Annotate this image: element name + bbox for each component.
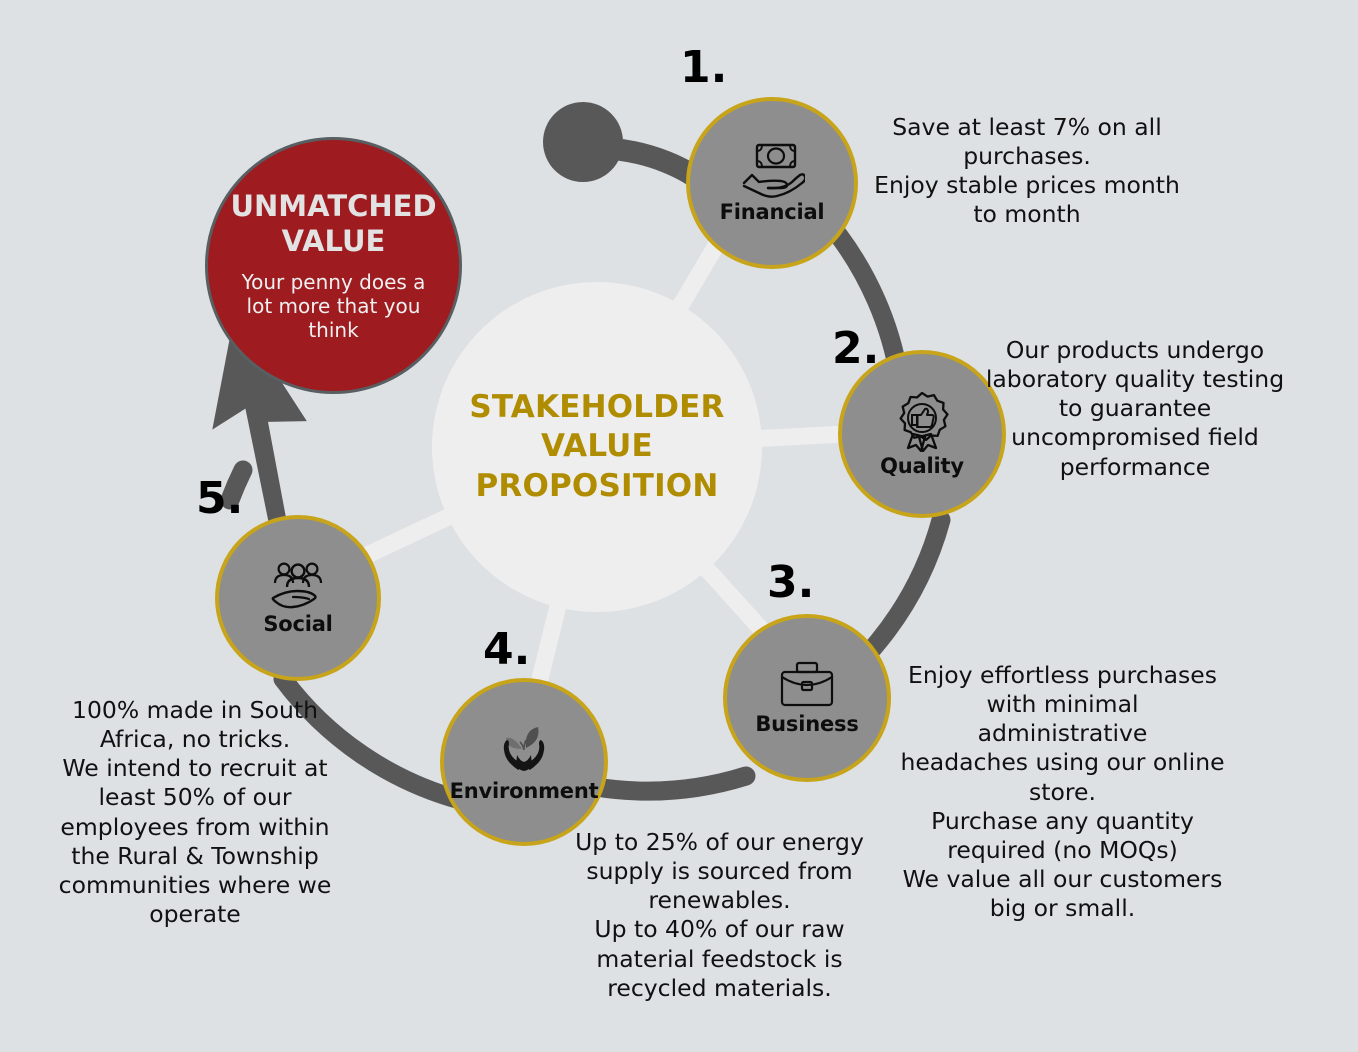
infographic-canvas: STAKEHOLDER VALUE PROPOSITION UNMATCHED … [0,0,1358,1052]
unmatched-value-title: UNMATCHED VALUE [230,189,436,257]
arc-business-environment [596,776,746,791]
node-business[interactable]: Business [723,614,891,782]
node-business-description: Enjoy effortless purchases with minimal … [900,661,1225,923]
node-quality[interactable]: Quality [838,350,1006,518]
hands-holding-plant-icon [493,721,555,777]
node-financial-label: Financial [720,200,825,224]
step-number-2: 2. [832,327,879,371]
node-social-label: Social [263,612,332,636]
briefcase-icon [778,660,836,710]
unmatched-value-circle[interactable]: UNMATCHED VALUE Your penny does a lot mo… [205,137,462,394]
step-number-5: 5. [196,477,243,521]
node-social-description: 100% made in South Africa, no tricks. We… [45,696,345,929]
node-environment[interactable]: Environment [440,678,608,846]
page-title: STAKEHOLDER VALUE PROPOSITION [469,388,724,506]
node-environment-label: Environment [450,779,599,803]
step-number-4: 4. [483,628,530,672]
arc-quality-business [873,520,941,648]
step-number-3: 3. [767,561,814,605]
node-quality-description: Our products undergo laboratory quality … [985,336,1285,482]
node-business-label: Business [755,712,858,736]
unmatched-value-subtitle: Your penny does a lot more that you thin… [242,270,426,342]
step-number-1: 1. [680,46,727,90]
node-financial-description: Save at least 7% on all purchases. Enjoy… [872,113,1182,230]
node-financial[interactable]: Financial [686,97,858,269]
center-hub: STAKEHOLDER VALUE PROPOSITION [432,282,762,612]
hand-holding-money-icon [739,142,805,198]
node-environment-description: Up to 25% of our energy supply is source… [572,828,867,1003]
quality-badge-thumbs-up-icon [891,390,953,452]
hand-holding-people-icon [267,560,329,610]
node-social[interactable]: Social [215,515,381,681]
node-quality-label: Quality [880,454,964,478]
